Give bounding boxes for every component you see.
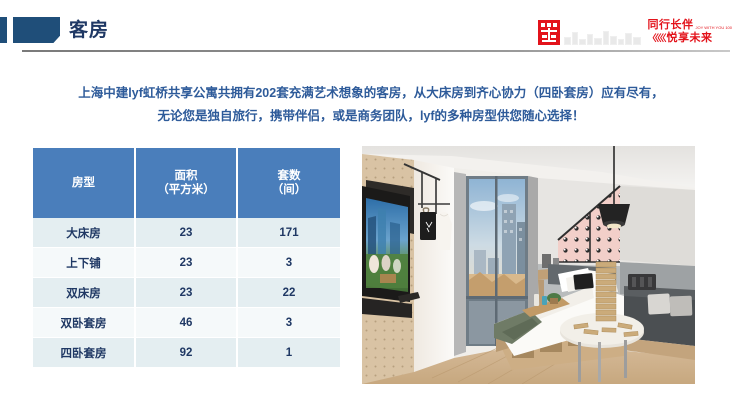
- table-row: 四卧套房 92 1: [33, 338, 340, 368]
- column-header-room-type: 房型: [33, 148, 136, 218]
- cell-area: 23: [136, 278, 238, 308]
- hotel-guestroom-photo: [362, 146, 695, 384]
- header-tab-accent-icon: [0, 17, 7, 43]
- column-header-area-sub: （平方米）: [136, 183, 236, 197]
- column-header-room-type-main: 房型: [33, 176, 134, 190]
- column-header-area-main: 面积: [136, 169, 236, 183]
- header-tab-shape-icon: [13, 17, 60, 43]
- table-row: 上下铺 23 3: [33, 248, 340, 278]
- column-header-count: 套数 （间）: [238, 148, 340, 218]
- slide: 客房 同行长伴 JOY WITH YOU 100 〈〈〈〈〈: [0, 0, 740, 417]
- city-skyline-icon: [564, 23, 642, 45]
- header-divider: [22, 50, 730, 52]
- room-type-table: 房型 面积 （平方米） 套数 （间） 大床房 23 171 上下铺 23: [33, 148, 340, 368]
- table-row: 双卧套房 46 3: [33, 308, 340, 338]
- page-title: 客房: [69, 18, 109, 43]
- brand-slogan: 同行长伴 JOY WITH YOU 100 〈〈〈〈〈 悦享未来: [647, 20, 732, 45]
- cell-area: 23: [136, 248, 238, 278]
- cell-room-type: 双床房: [33, 278, 136, 308]
- table-row: 双床房 23 22: [33, 278, 340, 308]
- cell-count: 3: [238, 308, 340, 338]
- cell-count: 1: [238, 338, 340, 368]
- brand-logo-group: 同行长伴 JOY WITH YOU 100 〈〈〈〈〈 悦享未来: [538, 11, 732, 45]
- intro-paragraph: 上海中建lyf虹桥共享公寓共拥有202套充满艺术想象的客房，从大床房到齐心协力（…: [33, 82, 709, 128]
- brand-slogan-line2: 悦享未来: [666, 33, 712, 44]
- chevron-left-icon: 〈〈〈〈〈: [647, 34, 664, 43]
- cell-room-type: 四卧套房: [33, 338, 136, 368]
- red-square-logo-icon: [538, 20, 560, 45]
- brand-slogan-line1: 同行长伴: [647, 20, 693, 31]
- cell-room-type: 上下铺: [33, 248, 136, 278]
- intro-line-2: 无论您是独自旅行，携带伴侣，或是商务团队，lyf的多种房型供您随心选择！: [33, 105, 709, 128]
- guestroom-illustration: [362, 146, 695, 384]
- table-header-row: 房型 面积 （平方米） 套数 （间）: [33, 148, 340, 218]
- cell-room-type: 双卧套房: [33, 308, 136, 338]
- brand-slogan-en: JOY WITH YOU 100: [695, 26, 732, 32]
- column-header-count-sub: （间）: [238, 183, 340, 197]
- cell-count: 3: [238, 248, 340, 278]
- cell-area: 92: [136, 338, 238, 368]
- cell-area: 23: [136, 218, 238, 248]
- column-header-area: 面积 （平方米）: [136, 148, 238, 218]
- cell-count: 171: [238, 218, 340, 248]
- intro-line-1: 上海中建lyf虹桥共享公寓共拥有202套充满艺术想象的客房，从大床房到齐心协力（…: [33, 82, 709, 105]
- cell-area: 46: [136, 308, 238, 338]
- column-header-count-main: 套数: [238, 169, 340, 183]
- table-row: 大床房 23 171: [33, 218, 340, 248]
- cell-count: 22: [238, 278, 340, 308]
- cell-room-type: 大床房: [33, 218, 136, 248]
